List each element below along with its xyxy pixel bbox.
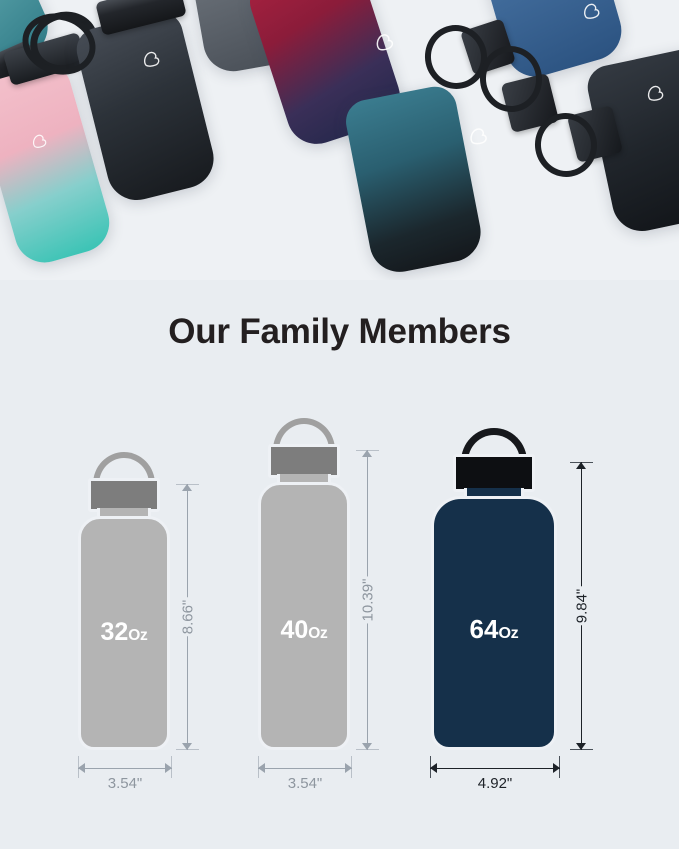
bottle-cap-32oz — [88, 478, 160, 512]
brand-logo-icon — [637, 75, 673, 111]
dim-arrow-right-icon — [345, 763, 352, 773]
width-label-32oz: 3.54" — [108, 775, 143, 792]
height-label-64oz: 9.84" — [569, 587, 596, 626]
dim-arrow-up-icon — [362, 450, 372, 457]
capacity-unit: Oz — [128, 627, 147, 644]
bottle-cap-40oz — [268, 444, 340, 478]
dim-arrow-down-icon — [182, 743, 192, 750]
height-label-32oz: 8.66" — [175, 598, 202, 637]
dim-line — [258, 768, 352, 769]
dim-arrow-left-icon — [258, 763, 265, 773]
capacity-value: 64 — [470, 614, 499, 644]
dim-line — [430, 768, 560, 769]
capacity-value: 40 — [280, 616, 308, 644]
bottle-capacity-label-32oz: 32Oz — [72, 618, 176, 647]
bottle-drawing-64oz: 64Oz — [428, 440, 578, 790]
dim-arrow-up-icon — [182, 484, 192, 491]
page-title: Our Family Members — [0, 312, 679, 352]
width-dimension-40oz: 3.54" — [258, 762, 352, 776]
width-label-64oz: 4.92" — [478, 775, 513, 792]
bottle-photo-teal-black — [342, 83, 486, 277]
height-dimension-40oz: 10.39" — [362, 450, 374, 750]
dim-line — [78, 768, 172, 769]
bottle-capacity-label-64oz: 64Oz — [428, 614, 560, 645]
dim-arrow-left-icon — [78, 763, 85, 773]
capacity-value: 32 — [100, 618, 128, 646]
capacity-unit: Oz — [498, 624, 518, 642]
product-photo-banner — [0, 0, 679, 280]
capacity-unit: Oz — [308, 625, 327, 642]
bottle-capacity-label-40oz: 40Oz — [252, 616, 356, 645]
dim-arrow-down-icon — [362, 743, 372, 750]
size-comparison-diagram: 32Oz 8.66" 3.54" — [0, 440, 679, 840]
height-dimension-32oz: 8.66" — [182, 484, 194, 750]
product-infographic-page: Our Family Members 32Oz 8.66" — [0, 0, 679, 849]
height-dimension-64oz: 9.84" — [576, 462, 588, 750]
width-label-40oz: 3.54" — [288, 775, 323, 792]
dim-arrow-up-icon — [576, 462, 586, 469]
height-label-40oz: 10.39" — [355, 577, 382, 624]
dim-arrow-right-icon — [553, 763, 560, 773]
brand-logo-icon — [459, 117, 497, 155]
dim-arrow-down-icon — [576, 743, 586, 750]
width-dimension-32oz: 3.54" — [78, 762, 172, 776]
width-dimension-64oz: 4.92" — [430, 762, 560, 776]
bottle-cap-64oz — [453, 454, 535, 492]
dim-arrow-left-icon — [430, 763, 437, 773]
dim-arrow-right-icon — [165, 763, 172, 773]
